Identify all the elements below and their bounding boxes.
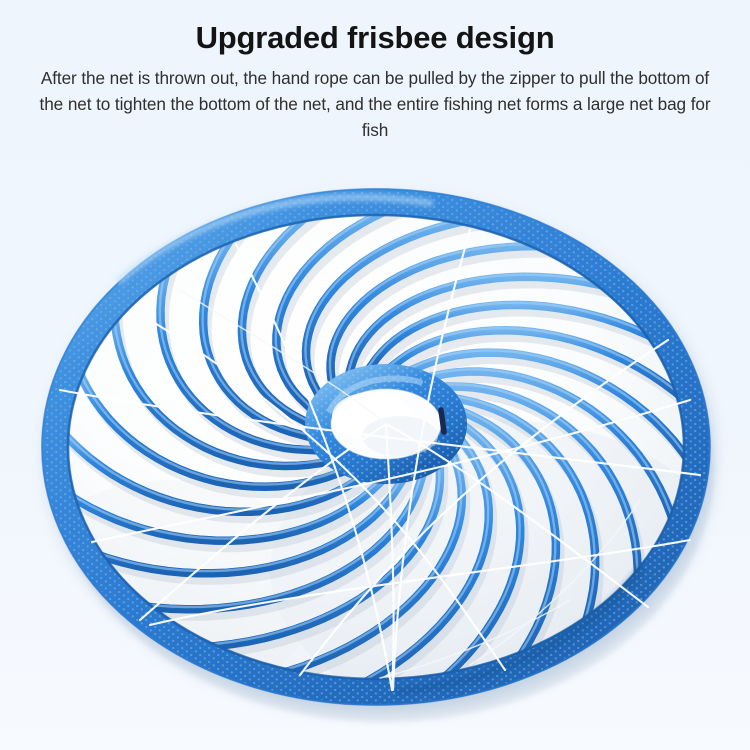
- page-title: Upgraded frisbee design: [0, 20, 750, 56]
- page-description: After the net is thrown out, the hand ro…: [35, 65, 715, 143]
- product-banner: Upgraded frisbee design After the net is…: [0, 0, 750, 750]
- product-image: [0, 170, 750, 750]
- rope-slot: [441, 410, 444, 432]
- frisbee-illustration: [0, 170, 750, 750]
- text-block: Upgraded frisbee design After the net is…: [0, 0, 750, 143]
